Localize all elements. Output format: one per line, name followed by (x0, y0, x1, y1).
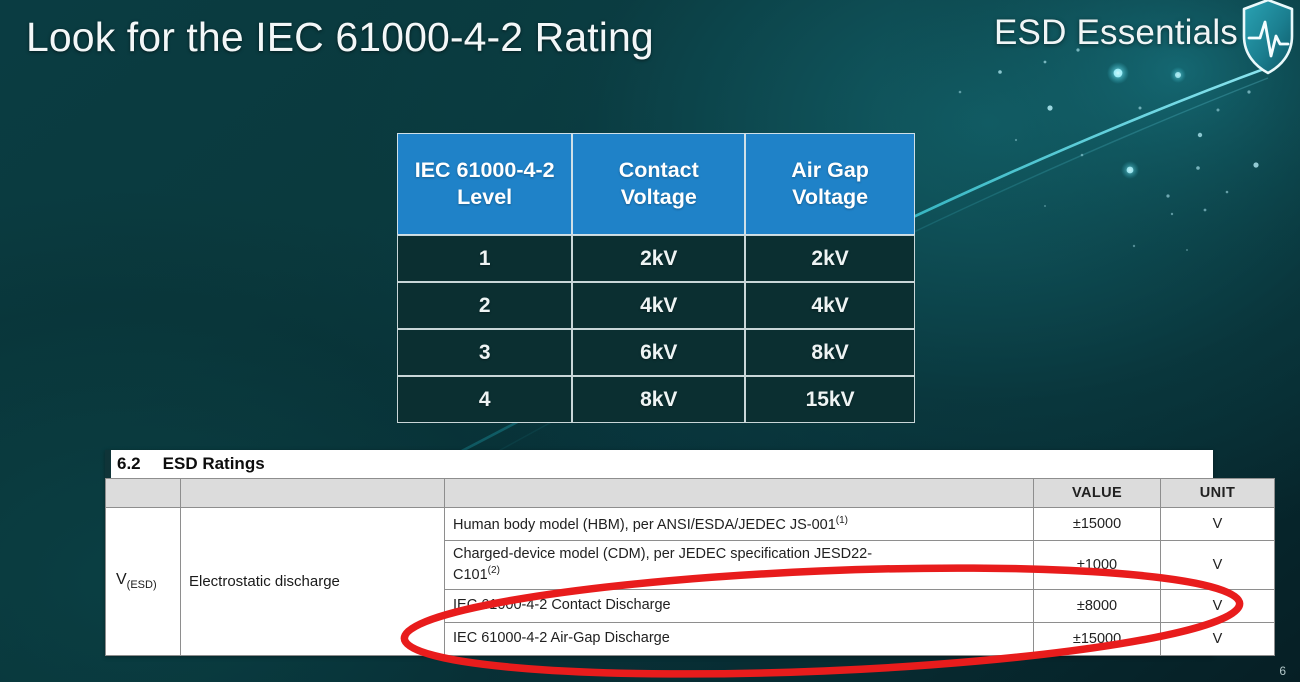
page-title: Look for the IEC 61000-4-2 Rating (26, 14, 654, 61)
iec-cell-airgap: 4kV (745, 282, 915, 329)
iec-cell-level: 3 (397, 329, 572, 376)
esd-header-unit: UNIT (1161, 479, 1275, 508)
iec-cell-level: 4 (397, 376, 572, 423)
esd-description-cell: IEC 61000-4-2 Contact Discharge (445, 589, 1034, 622)
iec-header-airgap-line2: Voltage (792, 185, 868, 209)
iec-header-airgap: Air Gap Voltage (745, 133, 915, 235)
iec-cell-level: 2 (397, 282, 572, 329)
esd-header-parameter (181, 479, 445, 508)
esd-footnote-marker: (1) (836, 515, 848, 526)
brand-name: ESD Essentials (994, 13, 1238, 53)
iec-header-contact-line2: Voltage (621, 185, 697, 209)
esd-value-cell: ±15000 (1034, 622, 1161, 655)
datasheet-section-heading: 6.2 ESD Ratings (105, 450, 1213, 478)
esd-description-cell: IEC 61000-4-2 Air-Gap Discharge (445, 622, 1034, 655)
esd-symbol-cell: V(ESD) (106, 508, 181, 656)
brand-block: ESD Essentials (994, 13, 1238, 53)
iec-cell-level: 1 (397, 235, 572, 282)
esd-description-text-line2: C101 (453, 567, 488, 583)
esd-header-symbol (106, 479, 181, 508)
esd-unit-cell: V (1161, 541, 1275, 590)
iec-header-contact-line1: Contact (619, 158, 699, 182)
table-row: V(ESD) Electrostatic discharge Human bod… (106, 508, 1275, 541)
iec-cell-airgap: 2kV (745, 235, 915, 282)
esd-unit-cell: V (1161, 508, 1275, 541)
section-title: ESD Ratings (163, 454, 265, 474)
datasheet-excerpt: 6.2 ESD Ratings VALUE UNIT V(ESD) Electr… (105, 450, 1213, 656)
esd-header-value: VALUE (1034, 479, 1161, 508)
iec-header-contact: Contact Voltage (572, 133, 745, 235)
iec-table-header-row: IEC 61000-4-2 Level Contact Voltage Air … (397, 133, 915, 235)
esd-description-text: Charged-device model (CDM), per JEDEC sp… (453, 546, 872, 562)
shield-heartbeat-icon (1240, 0, 1296, 76)
table-row: 3 6kV 8kV (397, 329, 915, 376)
esd-ratings-table: VALUE UNIT V(ESD) Electrostatic discharg… (105, 478, 1275, 656)
iec-cell-contact: 2kV (572, 235, 745, 282)
iec-level-table: IEC 61000-4-2 Level Contact Voltage Air … (397, 133, 915, 423)
iec-header-level-line1: IEC 61000-4-2 (415, 158, 555, 182)
iec-cell-airgap: 15kV (745, 376, 915, 423)
page-number: 6 (1279, 664, 1286, 678)
iec-header-level: IEC 61000-4-2 Level (397, 133, 572, 235)
esd-footnote-marker: (2) (488, 565, 500, 576)
esd-parameter-cell: Electrostatic discharge (181, 508, 445, 656)
table-row: 4 8kV 15kV (397, 376, 915, 423)
esd-unit-cell: V (1161, 622, 1275, 655)
esd-value-cell: ±1000 (1034, 541, 1161, 590)
esd-table-header-row: VALUE UNIT (106, 479, 1275, 508)
iec-cell-contact: 8kV (572, 376, 745, 423)
iec-header-airgap-line1: Air Gap (791, 158, 869, 182)
esd-symbol-subscript: (ESD) (127, 579, 157, 591)
esd-unit-cell: V (1161, 589, 1275, 622)
slide-canvas: Look for the IEC 61000-4-2 Rating ESD Es… (0, 0, 1300, 682)
table-row: 1 2kV 2kV (397, 235, 915, 282)
iec-header-level-line2: Level (457, 185, 512, 209)
iec-cell-contact: 4kV (572, 282, 745, 329)
esd-description-text: Human body model (HBM), per ANSI/ESDA/JE… (453, 516, 836, 532)
iec-cell-contact: 6kV (572, 329, 745, 376)
iec-cell-airgap: 8kV (745, 329, 915, 376)
table-row: 2 4kV 4kV (397, 282, 915, 329)
section-number: 6.2 (117, 454, 141, 474)
esd-header-description (445, 479, 1034, 508)
esd-value-cell: ±15000 (1034, 508, 1161, 541)
esd-description-cell: Human body model (HBM), per ANSI/ESDA/JE… (445, 508, 1034, 541)
esd-value-cell: ±8000 (1034, 589, 1161, 622)
esd-description-cell: Charged-device model (CDM), per JEDEC sp… (445, 541, 1034, 590)
esd-symbol-base: V (116, 571, 127, 588)
